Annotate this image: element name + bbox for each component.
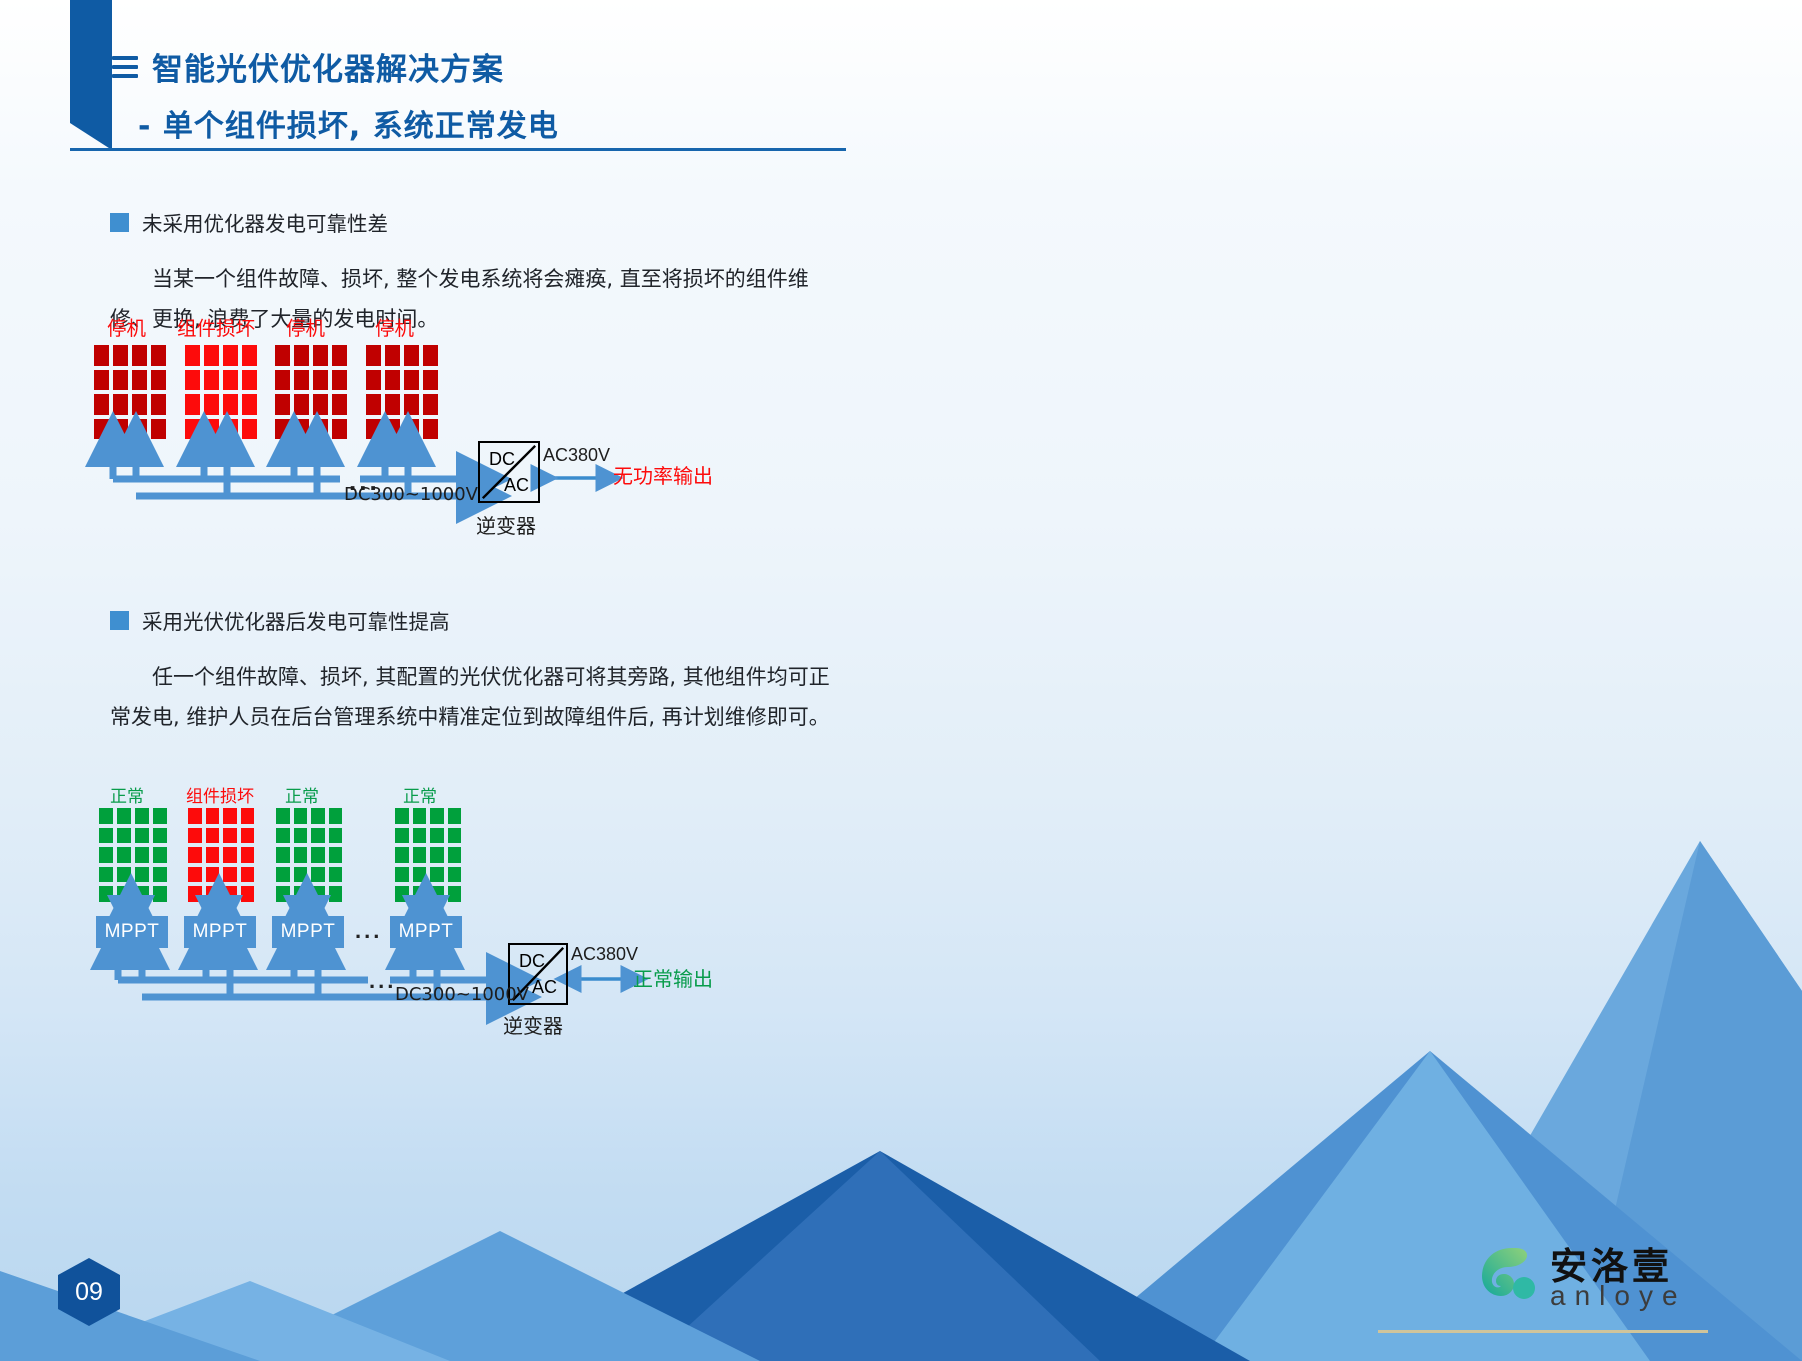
logo-text-en: anloye <box>1550 1280 1687 1312</box>
dc-voltage-label-2: DC300~1000V <box>395 984 529 1005</box>
ac380v-label-2: AC380V <box>571 944 638 965</box>
output-label-2: 正常输出 <box>633 963 713 992</box>
mppt-box-3[interactable]: MPPT <box>272 916 344 948</box>
mppt-box-2[interactable]: MPPT <box>184 916 256 948</box>
diagram-2-wiring <box>0 0 1802 1361</box>
page-canvas: 智能光伏优化器解决方案 - 单个组件损坏, 系统正常发电 未采用优化器发电可靠性… <box>0 0 1802 1361</box>
mppt-box-1[interactable]: MPPT <box>96 916 168 948</box>
inverter-2-name: 逆变器 <box>503 1010 563 1039</box>
brand-logo: 安洛壹 anloye <box>1478 1238 1708 1322</box>
mppt-box-4[interactable]: MPPT <box>390 916 462 948</box>
diagram-2-ellipsis-mppt: ... <box>355 918 382 944</box>
logo-divider <box>1378 1330 1708 1333</box>
logo-mark-icon <box>1478 1242 1542 1306</box>
diagram-2-ellipsis-bus: ... <box>369 968 396 994</box>
